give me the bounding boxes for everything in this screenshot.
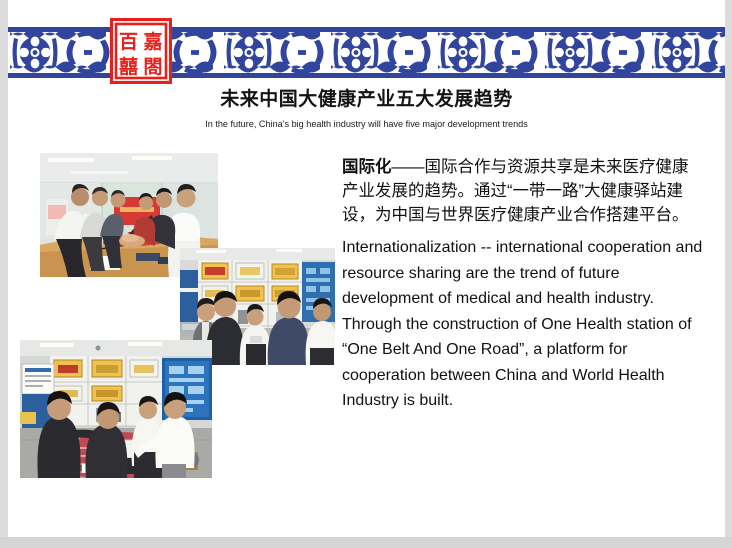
- page-subtitle: In the future, China's big health indust…: [22, 119, 710, 131]
- chinese-red-seal: 百 嘉 囍 閤: [110, 18, 172, 84]
- viewer-right-edge: [725, 0, 732, 548]
- paragraph-chinese-lead: 国际化: [342, 158, 392, 176]
- svg-text:囍: 囍: [119, 55, 138, 78]
- svg-text:百: 百: [119, 31, 138, 53]
- slide-page: 百 嘉 囍 閤 未来中国大健康产业五大发展趋势 In the future, C…: [8, 0, 725, 537]
- paragraph-chinese-rest: ——国际合作与资源共享是未来医疗健康产业发展的趋势。通过“一带一路”大健康驿站建…: [342, 158, 689, 224]
- viewer-bottom-edge: [0, 537, 732, 548]
- page-title: 未来中国大健康产业五大发展趋势: [8, 89, 725, 111]
- photo-equipment-demo: [20, 340, 212, 478]
- viewer-left-edge: [0, 0, 8, 548]
- body-text-column: 国际化——国际合作与资源共享是未来医疗健康产业发展的趋势。通过“一带一路”大健康…: [342, 155, 704, 414]
- svg-text:閤: 閤: [143, 56, 162, 78]
- svg-text:嘉: 嘉: [142, 31, 162, 53]
- slide-viewer: 百 嘉 囍 閤 未来中国大健康产业五大发展趋势 In the future, C…: [0, 0, 732, 548]
- paragraph-english: Internationalization -- international co…: [342, 235, 704, 414]
- paragraph-chinese: 国际化——国际合作与资源共享是未来医疗健康产业发展的趋势。通过“一带一路”大健康…: [342, 155, 704, 227]
